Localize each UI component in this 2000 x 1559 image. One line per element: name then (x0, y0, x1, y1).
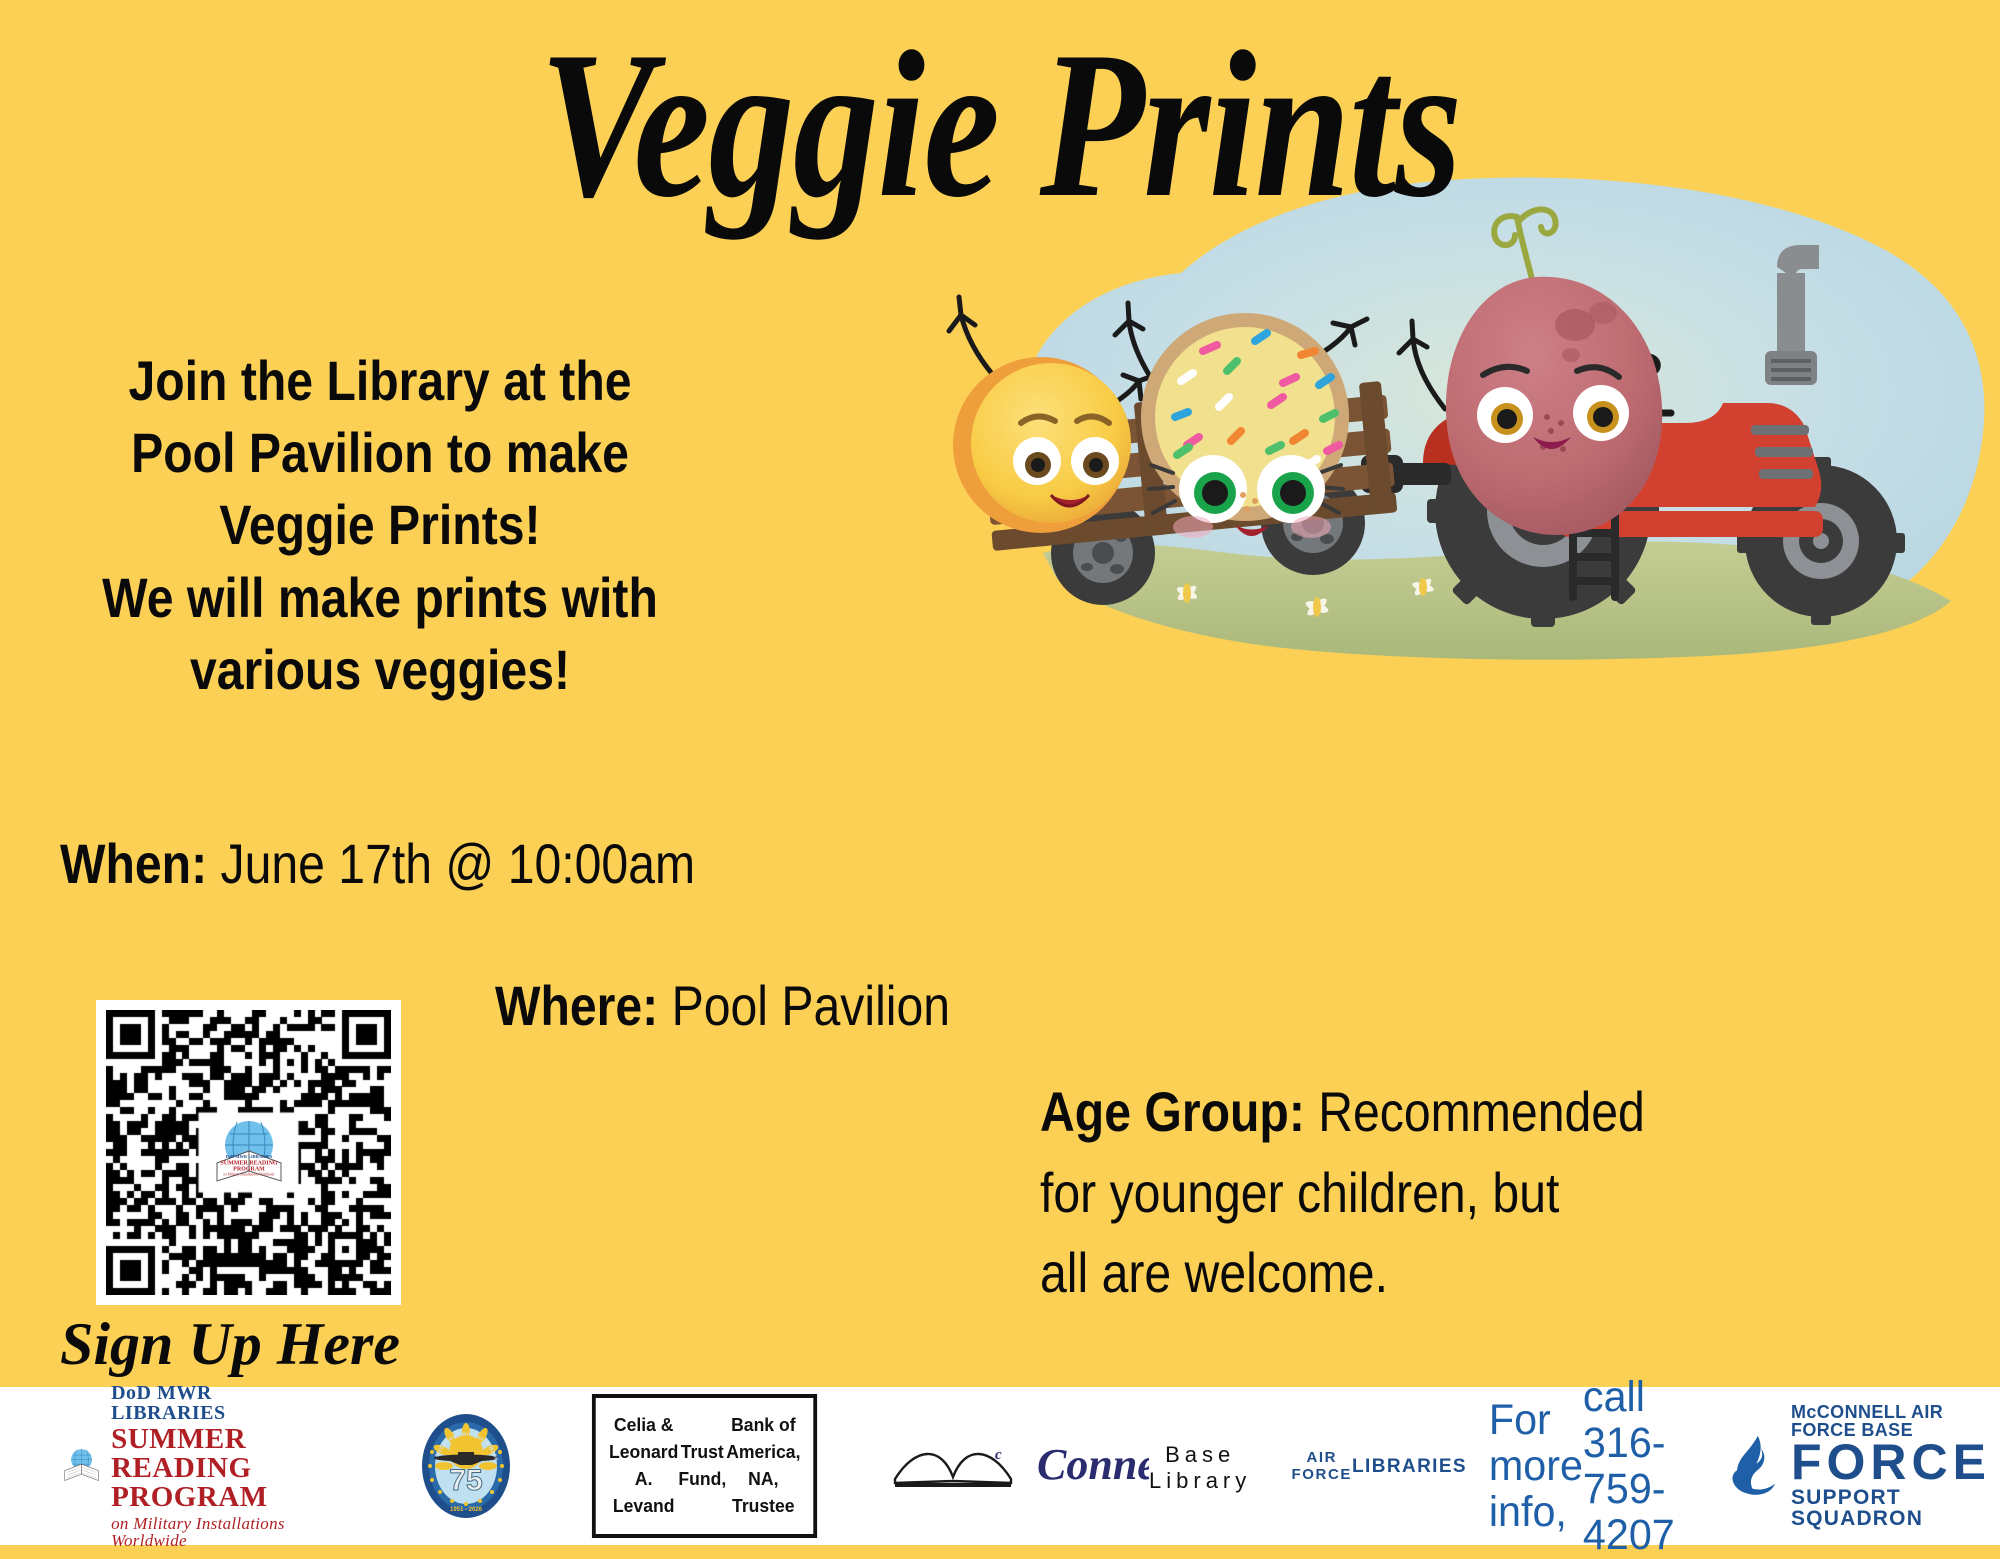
blurb-line-1: Join the Library at the (88, 345, 673, 417)
contact-line-2: call 316-759-4207 (1583, 1374, 1675, 1558)
sponsor-footer: DoD MWR LIBRARIES SUMMER READING PROGRAM… (0, 1387, 2000, 1545)
event-where: Where: Pool Pavilion (495, 972, 1269, 1039)
poster-canvas: Veggie Prints (0, 0, 2000, 1545)
af-libraries-bottom: LIBRARIES (1352, 1456, 1467, 1478)
event-age-group: Age Group: Recommended for younger child… (1040, 1072, 1814, 1314)
levand-line-3: Bank of America, NA, Trustee (726, 1412, 800, 1519)
qr-center-logo: DoD MWR LIBRARIES SUMMER READING PROGRAM… (203, 1117, 295, 1189)
event-when: When: June 17th @ 10:00am (60, 830, 834, 897)
fss-flame-icon (1727, 1423, 1781, 1509)
blurb-line-3: Veggie Prints! (88, 489, 673, 561)
svg-text:c: c (995, 1447, 1002, 1463)
when-label: When: (60, 832, 207, 895)
mcconnell-script: Connell (1037, 1440, 1149, 1489)
mcconnell-75th-seal: 75 McConnell Air Force Base Library 1951… (315, 1406, 512, 1526)
event-description: Join the Library at the Pool Pavilion to… (88, 345, 673, 706)
age-group-value-2: for younger children, but (1040, 1153, 1814, 1234)
age-group-label: Age Group: (1040, 1080, 1305, 1143)
fss-line-2: FORCE (1791, 1439, 2000, 1487)
signup-qr-code[interactable]: DoD MWR LIBRARIES SUMMER READING PROGRAM… (96, 1000, 401, 1305)
force-support-squadron-logo: McCONNELL AIR FORCE BASE FORCE SUPPORT S… (1727, 1406, 2000, 1526)
blurb-line-4: We will make prints with (88, 562, 673, 634)
svg-text:on Military Installations Worl: on Military Installations Worldwide (223, 1172, 275, 1176)
seal-years: 1951 - 2026 (450, 1507, 483, 1513)
open-book-icon: Connell c (889, 1439, 1149, 1493)
age-group-value-1: Recommended (1305, 1080, 1645, 1143)
where-value: Pool Pavilion (658, 974, 950, 1037)
svg-text:DoD MWR LIBRARIES: DoD MWR LIBRARIES (225, 1154, 272, 1159)
contact-line-1: For more info, (1489, 1397, 1583, 1535)
blurb-line-2: Pool Pavilion to make (88, 417, 673, 489)
signup-caption: Sign Up Here (60, 1310, 400, 1379)
air-force-libraries-logo: AIR FORCE (1309, 1406, 1449, 1526)
where-label: Where: (495, 974, 658, 1037)
dod-mwr-summer-reading-logo: DoD MWR LIBRARIES SUMMER READING PROGRAM… (62, 1406, 315, 1526)
levand-trust-fund-credit: Celia & Leonard A. Levand Trust Fund, Ba… (591, 1394, 817, 1538)
mcconnell-base-library-logo: Connell c Base Library (889, 1406, 1251, 1526)
book-globe-icon (62, 1426, 101, 1506)
contact-info: For more info, call 316-759-4207 (1489, 1406, 1675, 1526)
blurb-line-5: various veggies! (88, 634, 673, 706)
fss-line-3: SUPPORT SQUADRON (1791, 1487, 2000, 1529)
mcconnell-sub: Base Library (1149, 1442, 1251, 1494)
age-group-value-3: all are welcome. (1040, 1233, 1814, 1314)
age-group-line-1: Age Group: Recommended (1040, 1072, 1814, 1153)
srp-line-3: on Military Installations Worldwide (111, 1515, 314, 1549)
levand-line-1: Celia & Leonard A. Levand (609, 1412, 678, 1519)
when-value: June 17th @ 10:00am (207, 832, 695, 895)
srp-line-2: SUMMER READING PROGRAM (111, 1425, 314, 1512)
anniversary-seal-icon: 75 McConnell Air Force Base Library 1951… (420, 1412, 512, 1520)
page-title: Veggie Prints (180, 20, 1820, 230)
svg-text:75: 75 (449, 1464, 482, 1497)
af-libraries-top: AIR FORCE (1292, 1449, 1353, 1483)
levand-line-2: Trust Fund, (678, 1439, 726, 1493)
srp-line-1: DoD MWR LIBRARIES (111, 1383, 314, 1423)
